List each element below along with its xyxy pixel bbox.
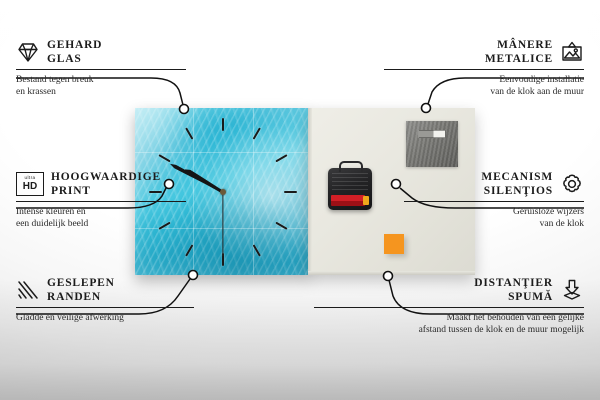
callout-divider	[16, 201, 186, 202]
callout-desc-line1: Intense kleuren en	[16, 206, 186, 218]
callout-geslepen-randen: GESLEPEN RANDEN Gladde en veilige afwerk…	[16, 276, 194, 324]
back-panel-edge	[308, 108, 312, 275]
ultra-hd-icon: ultra HD	[16, 172, 44, 196]
callout-divider	[16, 69, 186, 70]
movement-ribs	[332, 173, 368, 191]
back-panel-edge	[308, 271, 475, 275]
callout-title-line2: PRINT	[51, 184, 161, 198]
callout-header: ultra HD HOOGWAARDIGE PRINT	[16, 170, 186, 198]
clock-center-cap	[220, 189, 226, 195]
callout-desc-line1: Geruisloze wijzers	[404, 206, 584, 218]
foam-spacer	[384, 234, 404, 254]
bevelled-edges-icon	[16, 278, 40, 302]
callout-hoogwaardige-print: ultra HD HOOGWAARDIGE PRINT Intense kleu…	[16, 170, 186, 230]
callout-manere-metalice: MÂNERE METALICE Eenvoudige installatie v…	[384, 38, 584, 98]
callout-distantier-spuma: DISTANŢIER SPUMĂ Maakt het behouden van …	[314, 276, 584, 336]
callout-desc-line1: Eenvoudige installatie	[384, 74, 584, 86]
quartz-movement	[328, 168, 372, 210]
infographic-canvas: GEHARD GLAS Bestand tegen breuk en krass…	[0, 0, 600, 400]
callout-title-line2: SILENŢIOS	[481, 184, 553, 198]
clock-second-hand	[222, 192, 223, 256]
battery	[331, 195, 365, 206]
ultra-hd-icon-big-label: HD	[23, 182, 37, 192]
callout-gehard-glas: GEHARD GLAS Bestand tegen breuk en krass…	[16, 38, 186, 98]
callout-header: MECANISM SILENŢIOS	[404, 170, 584, 198]
callout-divider	[314, 307, 584, 308]
callout-desc-line2: van de klok aan de muur	[384, 86, 584, 98]
picture-hanger-icon	[560, 40, 584, 64]
callout-desc-line2: en krassen	[16, 86, 186, 98]
callout-title-line1: HOOGWAARDIGE	[51, 170, 161, 184]
callout-desc-line2: afstand tussen de klok en de muur mogeli…	[314, 324, 584, 336]
callout-title-line1: GESLEPEN	[47, 276, 115, 290]
callout-desc-line1: Bestand tegen breuk	[16, 74, 186, 86]
metal-hanger-plate	[406, 121, 458, 167]
callout-title-line2: SPUMĂ	[474, 290, 553, 304]
callout-desc-line1: Maakt het behouden van een gelijke	[314, 312, 584, 324]
callout-desc-line2: een duidelijk beeld	[16, 218, 186, 230]
callout-header: DISTANŢIER SPUMĂ	[314, 276, 584, 304]
callout-desc-line2: van de klok	[404, 218, 584, 230]
callout-title-line2: GLAS	[47, 52, 102, 66]
callout-desc-line1: Gladde en veilige afwerking	[16, 312, 194, 324]
callout-mecanism-silentios: MECANISM SILENŢIOS Geruisloze wijzers va…	[404, 170, 584, 230]
movement-hanging-loop	[339, 161, 363, 172]
callout-title-line2: RANDEN	[47, 290, 115, 304]
diamond-icon	[16, 40, 40, 64]
callout-divider	[404, 201, 584, 202]
callout-title-line1: GEHARD	[47, 38, 102, 52]
hanger-keyhole-slot	[418, 130, 446, 138]
callout-divider	[384, 69, 584, 70]
callout-header: GEHARD GLAS	[16, 38, 186, 66]
callout-header: MÂNERE METALICE	[384, 38, 584, 66]
callout-title-line1: MÂNERE	[485, 38, 553, 52]
callout-header: GESLEPEN RANDEN	[16, 276, 194, 304]
callout-title-line2: METALICE	[485, 52, 553, 66]
callout-divider	[16, 307, 194, 308]
foam-spacer-icon	[560, 278, 584, 302]
callout-title-line1: DISTANŢIER	[474, 276, 553, 290]
callout-title-line1: MECANISM	[481, 170, 553, 184]
gear-icon	[560, 172, 584, 196]
